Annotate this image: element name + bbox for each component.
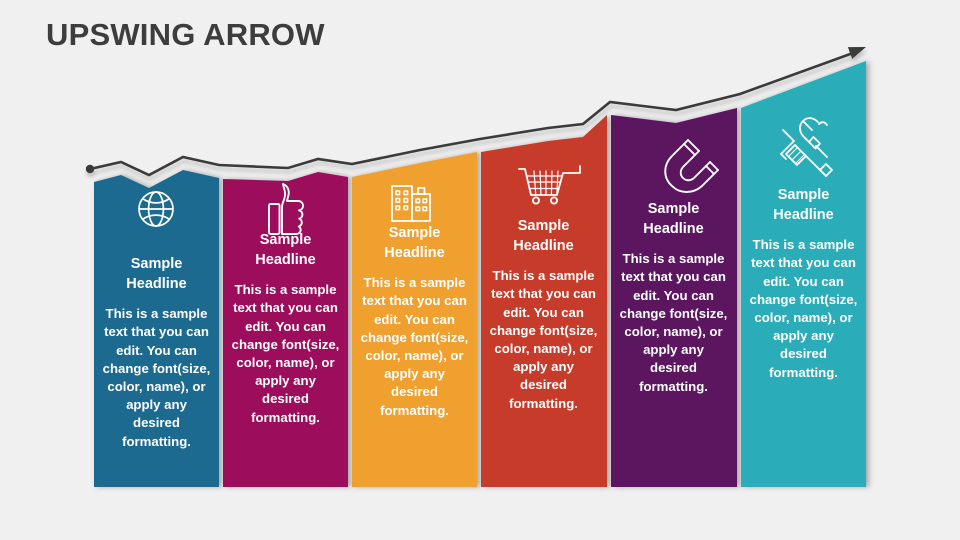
slide-canvas: UPSWING ARROW	[0, 0, 960, 540]
column-3-headline: Sample Headline	[360, 224, 469, 263]
column-6-body: This is a sample text that you can edit.…	[749, 236, 858, 382]
column-2-body: This is a sample text that you can edit.…	[231, 281, 340, 427]
column-3-text: Sample Headline This is a sample text th…	[352, 224, 477, 420]
column-4-body: This is a sample text that you can edit.…	[489, 267, 598, 413]
column-6-text: Sample Headline This is a sample text th…	[741, 186, 866, 382]
column-2-headline: Sample Headline	[231, 231, 340, 270]
column-1-headline: Sample Headline	[102, 255, 211, 294]
column-1-text: Sample Headline This is a sample text th…	[94, 255, 219, 451]
column-1-body: This is a sample text that you can edit.…	[102, 305, 211, 451]
column-6-headline: Sample Headline	[749, 186, 858, 225]
column-4-text: Sample Headline This is a sample text th…	[481, 217, 606, 413]
trendline-start-dot	[86, 165, 94, 173]
column-2-text: Sample Headline This is a sample text th…	[223, 231, 348, 427]
column-5-headline: Sample Headline	[619, 200, 728, 239]
column-5-text: Sample Headline This is a sample text th…	[611, 200, 736, 396]
column-3-body: This is a sample text that you can edit.…	[360, 274, 469, 420]
column-4-headline: Sample Headline	[489, 217, 598, 256]
column-5-body: This is a sample text that you can edit.…	[619, 250, 728, 396]
trendline-arrowhead	[848, 47, 866, 59]
